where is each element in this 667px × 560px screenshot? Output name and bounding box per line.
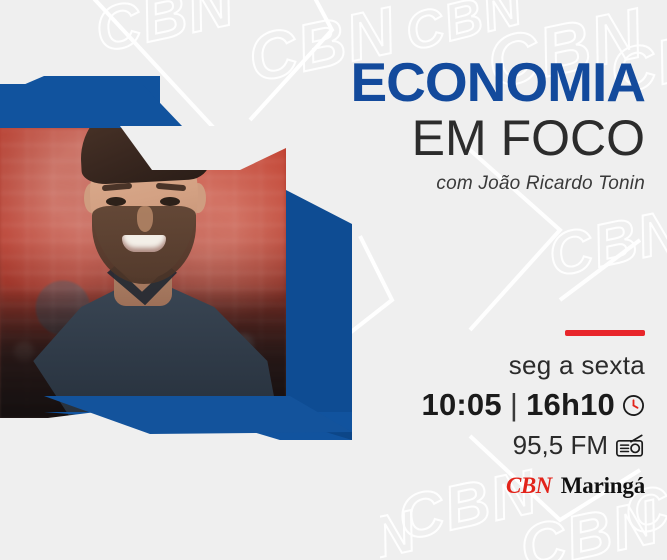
time-morning: 10:05	[422, 387, 502, 423]
radio-icon	[615, 433, 645, 458]
title-block: ECONOMIA EM FOCO com João Ricardo Tonin	[351, 56, 646, 195]
time-afternoon: 16h10	[526, 387, 615, 423]
page-title: ECONOMIA	[351, 56, 646, 108]
promo-card: CBNCBNCBNCBNCBNCBNCBNCBNCBNCBNCBN	[0, 0, 667, 560]
schedule-frequency: 95,5 FM	[422, 430, 645, 461]
red-divider-rule	[565, 330, 645, 336]
host-photo-composition	[0, 0, 400, 560]
host-credit: com João Ricardo Tonin	[351, 173, 646, 195]
logo-city: Maringá	[561, 473, 645, 499]
time-separator: |	[509, 387, 519, 423]
page-subtitle: EM FOCO	[351, 112, 646, 165]
blue-floor-plane	[0, 0, 400, 560]
schedule-days: seg a sexta	[422, 350, 645, 381]
frequency-label: 95,5 FM	[513, 430, 608, 461]
station-logo: CBN Maringá	[422, 473, 645, 499]
schedule-block: seg a sexta 10:05 | 16h10 95,5 FM	[422, 330, 645, 499]
schedule-times: 10:05 | 16h10	[422, 387, 645, 423]
logo-network: CBN	[506, 473, 552, 499]
clock-icon	[622, 394, 645, 417]
